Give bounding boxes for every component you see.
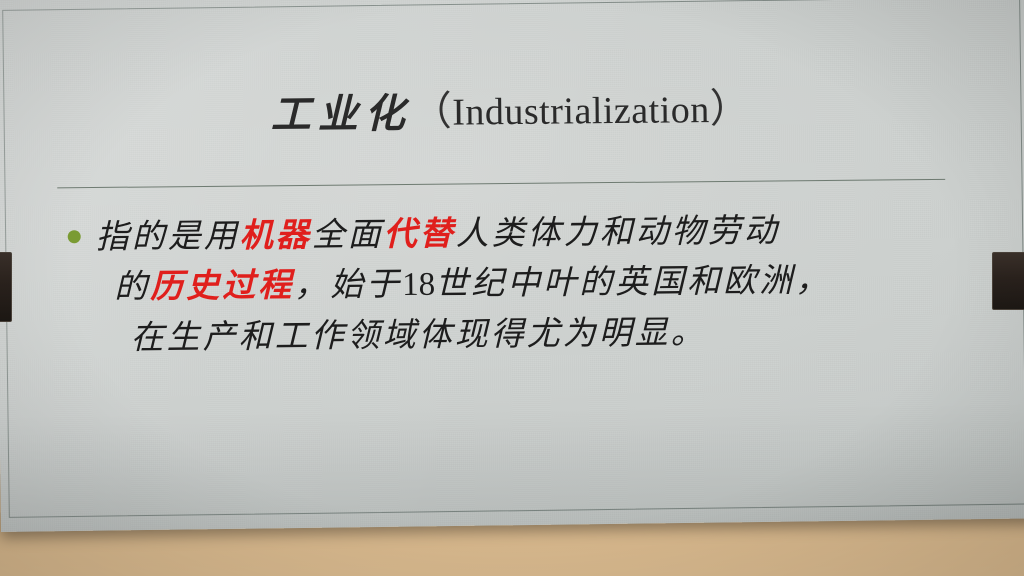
line1-seg3: 全面 xyxy=(312,214,384,254)
title-open-paren: （ xyxy=(412,89,453,134)
line3-seg1: 在生产和工作领域体现得尤为明显。 xyxy=(130,312,706,357)
line2-seg4-number: 18 xyxy=(402,267,435,303)
line2-seg2-highlight: 历史过程 xyxy=(150,265,294,305)
bullet-marker-icon xyxy=(68,230,81,243)
title-close-paren: ） xyxy=(710,86,751,131)
title-english: Industrialization xyxy=(452,89,710,133)
slide-title: 工业化（Industrialization） xyxy=(0,73,1023,143)
line2-seg5: 世纪中叶的英国和欧洲， xyxy=(435,260,831,303)
title-divider-rule xyxy=(57,179,945,189)
slide-content: 工业化（Industrialization） 指的是用机器全面代替人类体力和动物… xyxy=(0,0,1024,535)
line2-seg3: ，始于 xyxy=(294,264,402,304)
screenshot-root: 工业化（Industrialization） 指的是用机器全面代替人类体力和动物… xyxy=(0,0,1024,576)
bullet-paragraph: 指的是用机器全面代替人类体力和动物劳动 的历史过程，始于18世纪中叶的英国和欧洲… xyxy=(61,204,962,364)
title-chinese: 工业化 xyxy=(271,90,412,138)
line1-seg1: 指的是用 xyxy=(96,216,240,256)
body-line-2: 的历史过程，始于18世纪中叶的英国和欧洲， xyxy=(114,254,962,313)
body-line-1: 指的是用机器全面代替人类体力和动物劳动 xyxy=(95,204,961,262)
line1-seg2-highlight: 机器 xyxy=(240,215,312,255)
body-line-3: 在生产和工作领域体现得尤为明显。 xyxy=(130,305,962,363)
line2-seg1: 的 xyxy=(114,266,150,305)
body-text: 指的是用机器全面代替人类体力和动物劳动 的历史过程，始于18世纪中叶的英国和欧洲… xyxy=(95,204,962,363)
line1-seg5: 人类体力和动物劳动 xyxy=(456,210,780,252)
line1-seg4-highlight: 代替 xyxy=(384,214,456,254)
